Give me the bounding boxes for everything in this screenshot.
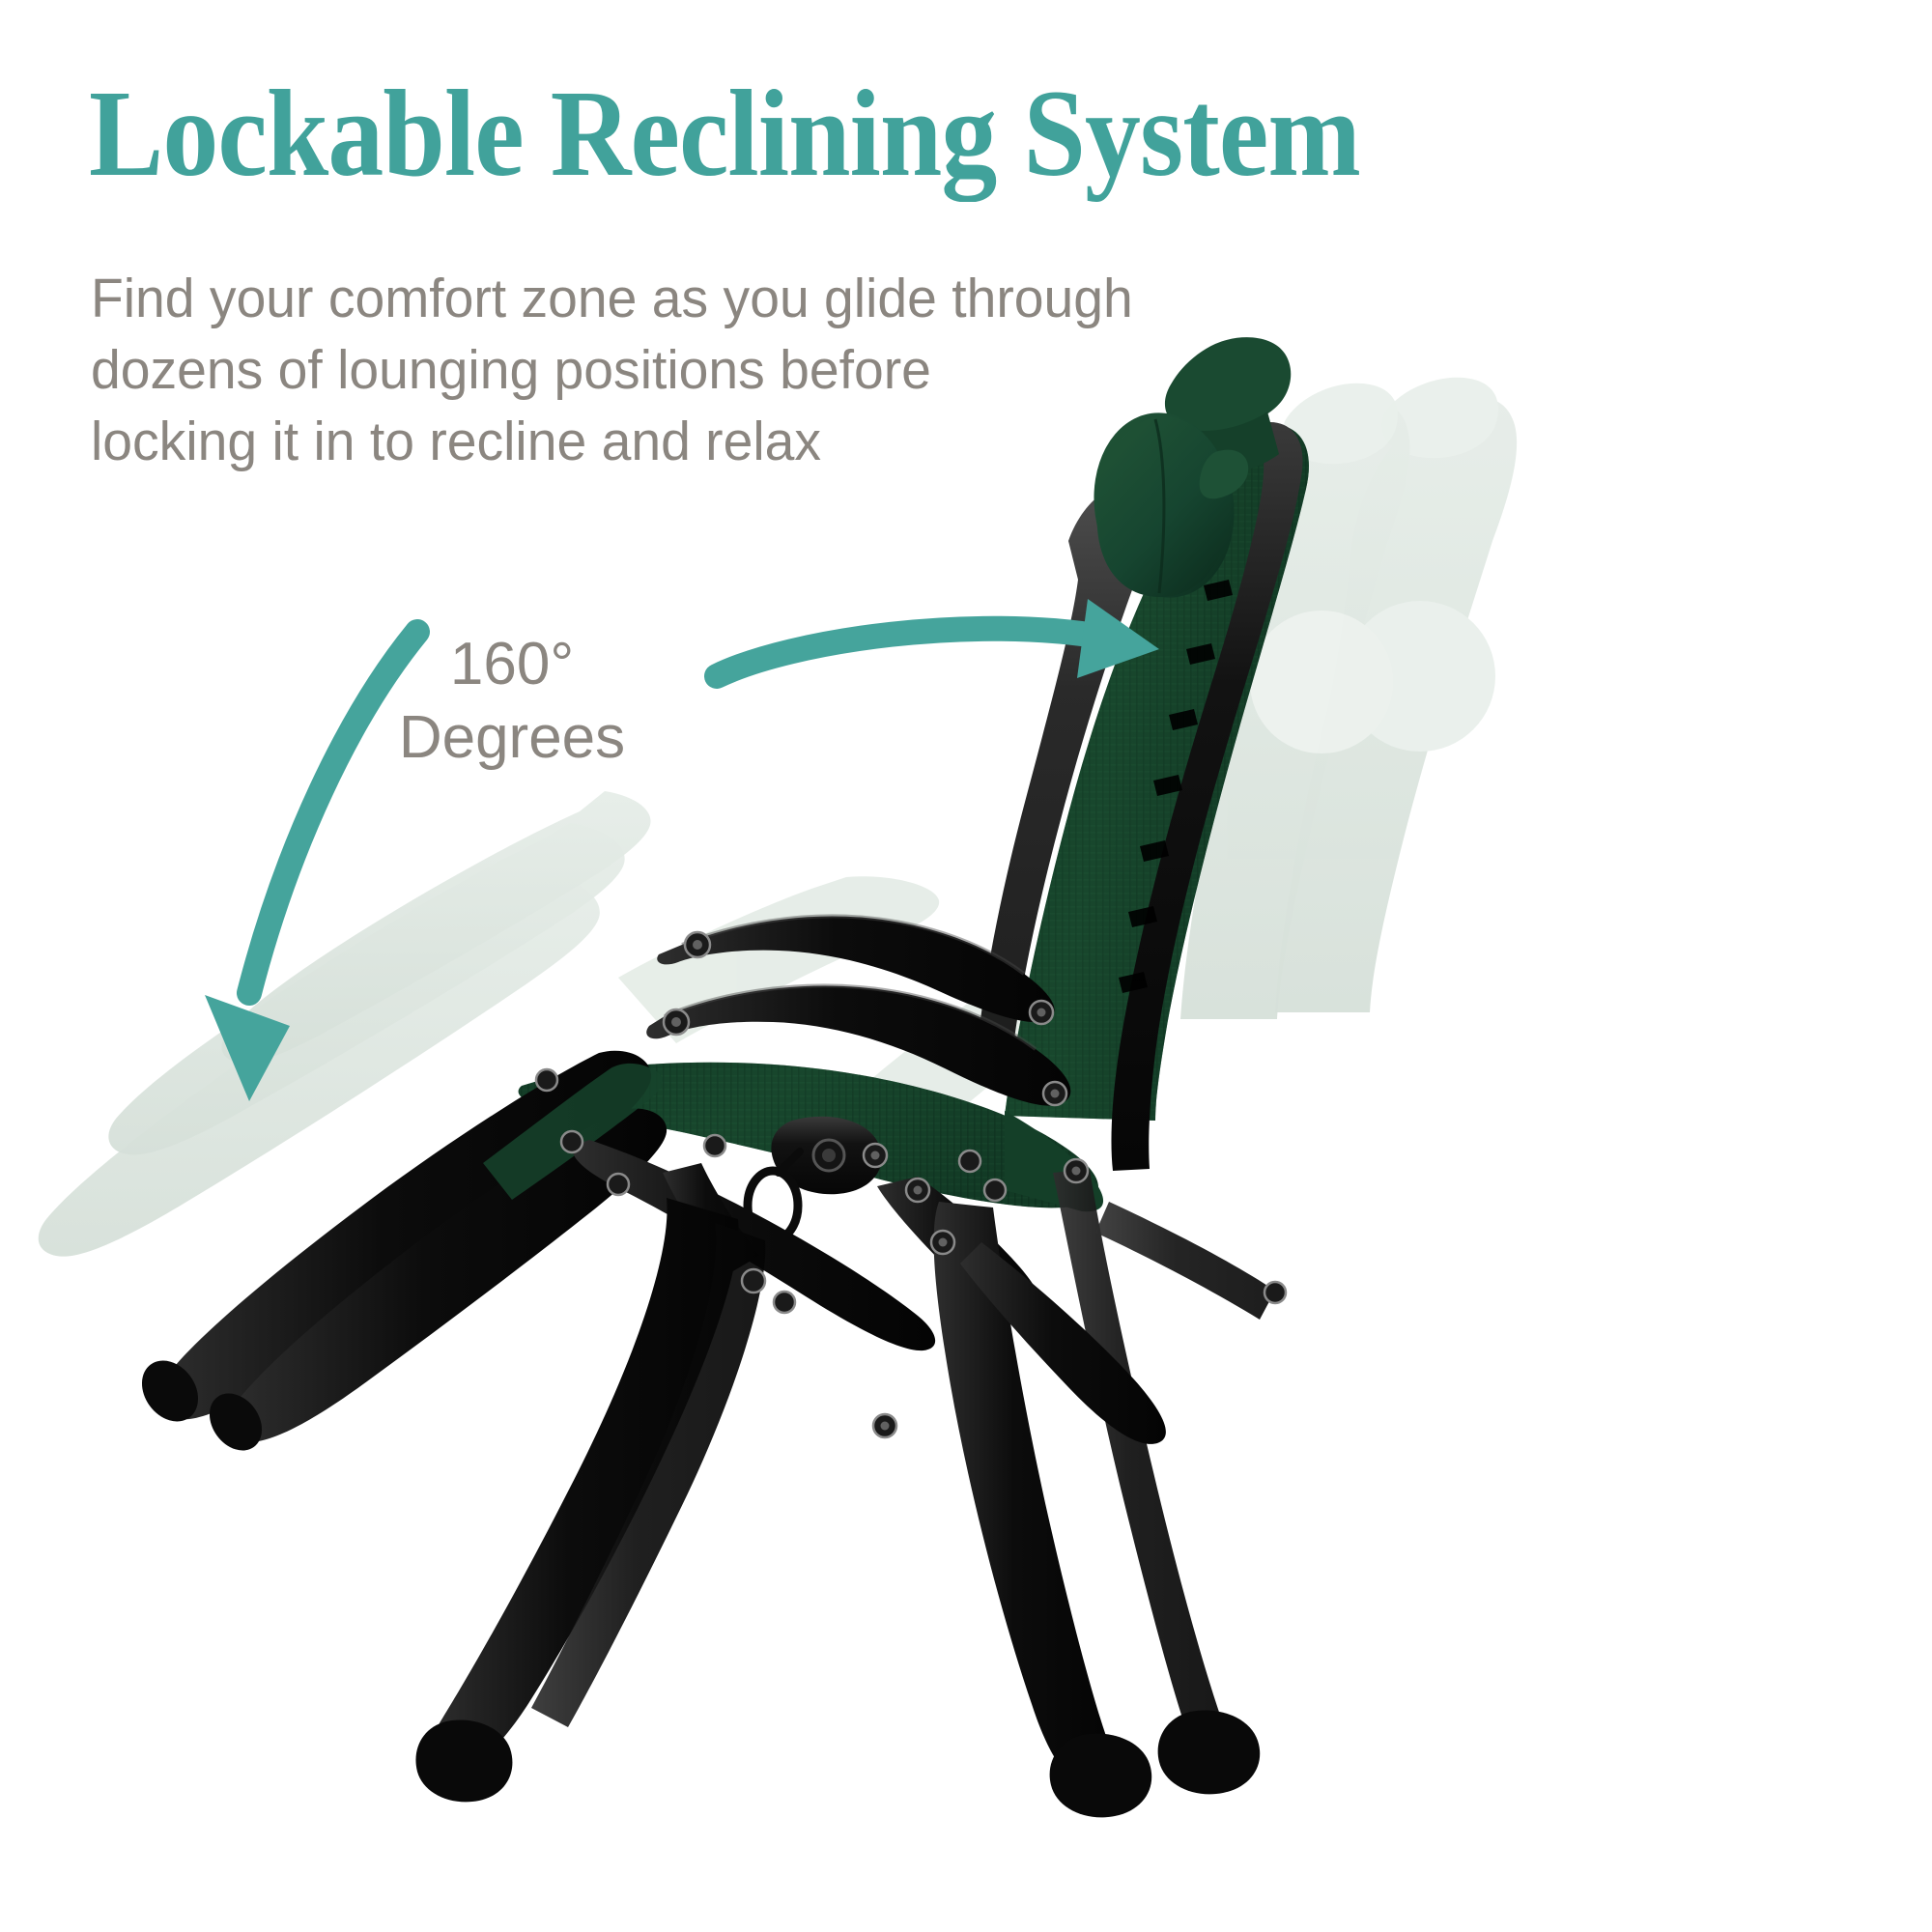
recline-forward-arrow — [717, 599, 1159, 678]
infographic-canvas: Lockable Reclining System Find your comf… — [0, 0, 1932, 1932]
recline-direction-arrows — [0, 0, 1932, 1932]
recline-back-arrow — [205, 632, 417, 1101]
